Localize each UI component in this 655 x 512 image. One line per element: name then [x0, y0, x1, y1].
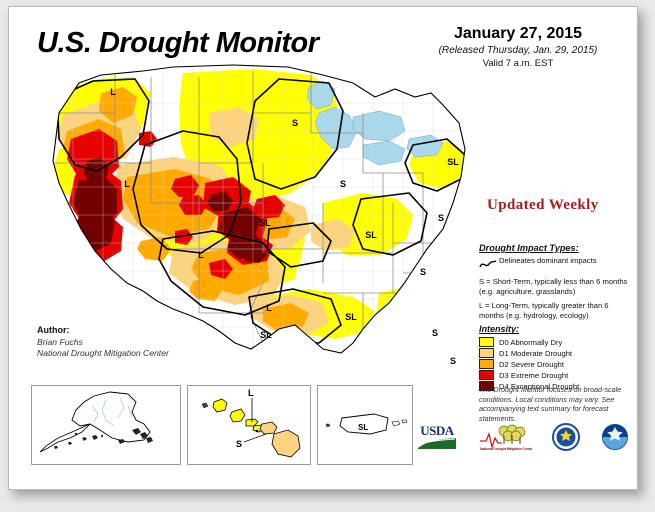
intensity-row-d0: D0 Abnormally Dry	[479, 337, 629, 347]
intensity-label-d0: D0 Abnormally Dry	[499, 338, 562, 347]
usda-logo: USDA	[417, 424, 457, 450]
drought-monitor-card: U.S. Drought Monitor January 27, 2015 (R…	[8, 6, 638, 490]
delineates-label: Delineates dominant impacts	[499, 256, 597, 265]
ndmc-logo-mark: National Drought Mitigation Center	[478, 422, 532, 452]
map-impact-label-l-1: L	[124, 179, 130, 189]
us-drought-map: LLLSSSLSLSSLLSLSSLSS	[23, 53, 478, 373]
updated-weekly-note: Updated Weekly	[487, 197, 599, 214]
noaa-logo	[601, 423, 629, 451]
intensity-label-d1: D1 Moderate Drought	[499, 349, 572, 358]
map-impact-label-sl-8: SL	[447, 157, 459, 167]
map-impact-label-l-0: L	[110, 87, 116, 97]
map-impact-label-sl-5: SL	[259, 218, 271, 228]
ndmc-logo: National Drought Mitigation Center	[478, 422, 532, 452]
intensity-heading: Intensity:	[479, 324, 629, 334]
map-impact-label-sl-10: SL	[345, 312, 357, 322]
legend-panel: Drought Impact Types: Delineates dominan…	[479, 243, 629, 392]
short-term-desc: S = Short-Term, typically less than 6 mo…	[479, 277, 629, 297]
map-impact-label-s-14: S	[450, 356, 456, 366]
intensity-row-d1: D1 Moderate Drought	[479, 348, 629, 358]
usda-seal-mark	[552, 423, 580, 451]
intensity-row-d3: D3 Extreme Drought	[479, 370, 629, 380]
inset-map-hawaii: L S	[187, 385, 311, 465]
map-date: January 27, 2015	[407, 25, 629, 43]
ndmc-logo-text: National Drought Mitigation Center	[480, 447, 532, 451]
intensity-swatch-d1	[479, 348, 494, 358]
usda-logo-mark	[417, 437, 457, 450]
map-impact-label-s-13: S	[432, 328, 438, 338]
intensity-label-d2: D2 Severe Drought	[499, 360, 564, 369]
map-impact-label-sl-12: SL	[260, 330, 272, 340]
logo-row: USDA National Drought Mitigation Center	[417, 413, 629, 461]
delineates-row: Delineates dominant impacts	[479, 256, 629, 274]
impact-types-heading: Drought Impact Types:	[479, 243, 629, 253]
map-impact-label-s-7: S	[438, 213, 444, 223]
map-impact-label-l-9: L	[266, 303, 272, 313]
long-term-desc: L = Long-Term, typically greater than 6 …	[479, 301, 629, 321]
inset-hawaii-label-S: S	[236, 439, 242, 449]
inset-pr-label-SL: SL	[358, 423, 368, 432]
squiggle-icon	[479, 256, 499, 274]
map-impact-label-s-11: S	[420, 267, 426, 277]
intensity-row-d2: D2 Severe Drought	[479, 359, 629, 369]
map-impact-label-s-4: S	[340, 179, 346, 189]
inset-map-puerto-rico: SL	[317, 385, 413, 465]
map-impact-label-sl-6: SL	[365, 230, 377, 240]
map-impact-label-l-2: L	[198, 250, 204, 260]
usda-seal-logo	[552, 423, 580, 451]
noaa-logo-mark	[601, 423, 629, 451]
map-impact-label-s-3: S	[292, 118, 298, 128]
intensity-swatch-d3	[479, 370, 494, 380]
usda-logo-text: USDA	[420, 424, 453, 437]
intensity-swatch-d2	[479, 359, 494, 369]
intensity-list: D0 Abnormally DryD1 Moderate DroughtD2 S…	[479, 337, 629, 391]
intensity-label-d3: D3 Extreme Drought	[499, 371, 568, 380]
inset-map-alaska	[31, 385, 181, 465]
intensity-swatch-d0	[479, 337, 494, 347]
inset-hawaii-label-L: L	[248, 388, 254, 398]
